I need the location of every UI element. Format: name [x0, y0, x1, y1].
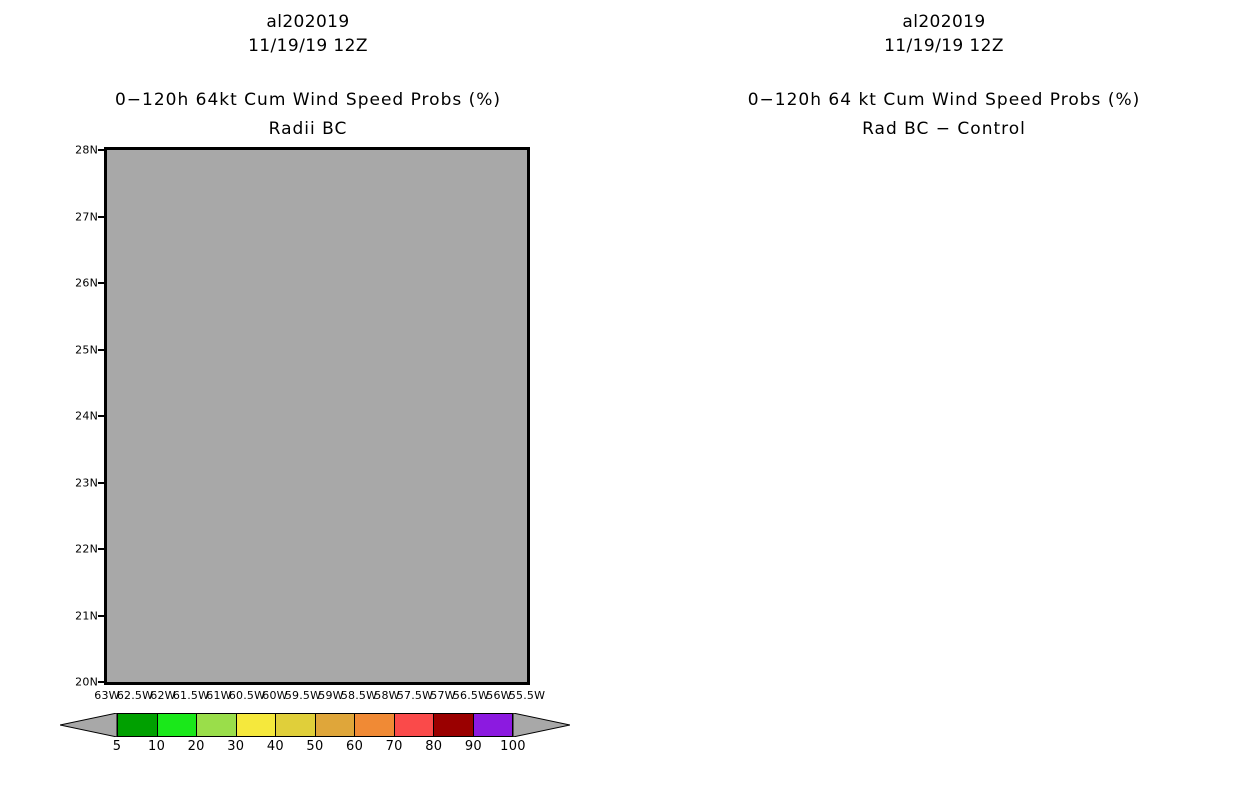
- colorbar-swatch: [276, 714, 316, 736]
- left-colorbar: 5102030405060708090100: [60, 713, 570, 737]
- y-axis-tick-mark: [98, 548, 104, 550]
- colorbar-swatch: [197, 714, 237, 736]
- colorbar-tick-label: 100: [500, 739, 526, 754]
- y-axis-tick-label: 28N: [62, 144, 98, 157]
- y-axis-tick-label: 24N: [62, 410, 98, 423]
- colorbar-tick-label: 10: [148, 739, 165, 754]
- left-title-datetime: 11/19/19 12Z: [0, 36, 617, 56]
- y-axis-tick-mark: [98, 482, 104, 484]
- y-axis-tick-mark: [98, 216, 104, 218]
- left-title-storm-id: al202019: [0, 12, 617, 32]
- y-axis-tick-label: 23N: [62, 476, 98, 489]
- right-title-storm-id: al202019: [635, 12, 1236, 32]
- colorbar-under-arrow-shape: [60, 713, 117, 737]
- colorbar-tick-label: 80: [425, 739, 442, 754]
- y-axis-tick-label: 22N: [62, 543, 98, 556]
- colorbar-over-arrow-shape: [513, 713, 570, 737]
- colorbar-tick-label: 60: [346, 739, 363, 754]
- y-axis-tick-mark: [98, 149, 104, 151]
- x-axis-tick-label: 61.5W: [173, 689, 209, 702]
- colorbar-swatch: [316, 714, 356, 736]
- left-plot-area: [104, 147, 530, 685]
- panel-left-radii-bc: al202019 11/19/19 12Z 0−120h 64kt Cum Wi…: [0, 0, 618, 800]
- colorbar-swatch: [355, 714, 395, 736]
- left-colorbar-tick-labels: 5102030405060708090100: [117, 739, 513, 759]
- y-axis-tick-label: 26N: [62, 277, 98, 290]
- x-axis-tick-label: 57.5W: [397, 689, 433, 702]
- colorbar-tick-label: 5: [113, 739, 122, 754]
- x-axis-tick-label: 58.5W: [341, 689, 377, 702]
- colorbar-swatch: [158, 714, 198, 736]
- left-colorbar-over-arrow-icon: [513, 713, 570, 737]
- colorbar-tick-label: 50: [306, 739, 323, 754]
- x-axis-tick-label: 59.5W: [285, 689, 321, 702]
- panel-right-rad-bc-minus-control: al202019 11/19/19 12Z 0−120h 64 kt Cum W…: [618, 0, 1236, 800]
- x-axis-tick-label: 55.5W: [509, 689, 545, 702]
- colorbar-tick-label: 20: [188, 739, 205, 754]
- colorbar-swatch: [237, 714, 277, 736]
- x-axis-tick-label: 56.5W: [453, 689, 489, 702]
- colorbar-tick-label: 90: [465, 739, 482, 754]
- left-colorbar-swatches: [117, 713, 513, 737]
- colorbar-tick-label: 30: [227, 739, 244, 754]
- right-title-datetime: 11/19/19 12Z: [635, 36, 1236, 56]
- y-axis-tick-mark: [98, 282, 104, 284]
- y-axis-tick-label: 20N: [62, 676, 98, 689]
- y-axis-tick-label: 21N: [62, 609, 98, 622]
- left-title-main: 0−120h 64kt Cum Wind Speed Probs (%): [0, 90, 617, 110]
- colorbar-tick-label: 70: [386, 739, 403, 754]
- colorbar-swatch: [474, 714, 513, 736]
- right-title-main: 0−120h 64 kt Cum Wind Speed Probs (%): [635, 90, 1236, 110]
- x-axis-tick-label: 60.5W: [229, 689, 265, 702]
- y-axis-tick-mark: [98, 615, 104, 617]
- colorbar-tick-label: 40: [267, 739, 284, 754]
- y-axis-tick-mark: [98, 415, 104, 417]
- y-axis-tick-mark: [98, 681, 104, 683]
- left-colorbar-under-arrow-icon: [60, 713, 117, 737]
- left-title-sub: Radii BC: [0, 119, 617, 139]
- y-axis-tick-mark: [98, 349, 104, 351]
- colorbar-swatch: [434, 714, 474, 736]
- colorbar-swatch: [118, 714, 158, 736]
- y-axis-tick-label: 25N: [62, 343, 98, 356]
- colorbar-swatch: [395, 714, 435, 736]
- right-title-sub: Rad BC − Control: [635, 119, 1236, 139]
- y-axis-tick-label: 27N: [62, 210, 98, 223]
- x-axis-tick-label: 62.5W: [117, 689, 153, 702]
- left-contour-field: [107, 150, 527, 682]
